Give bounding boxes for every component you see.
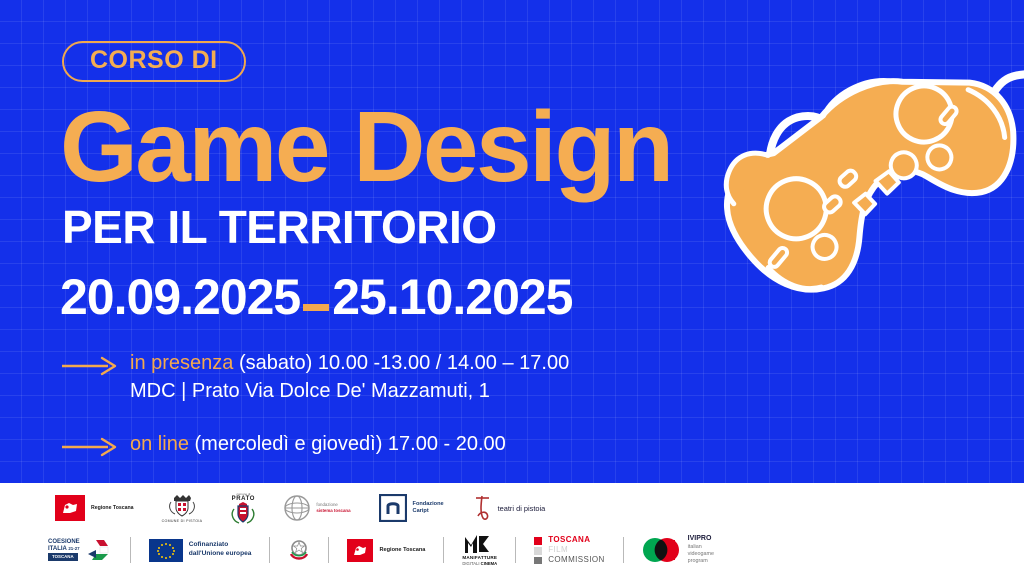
coesione-italia-label: COESIONE ITALIA 21-27 TOSCANA <box>48 539 80 562</box>
start-date: 20.09.2025 <box>60 272 300 322</box>
comune-di-prato-logo: comune di PRATO <box>230 492 256 524</box>
coesione-italia-arrow-mark <box>86 538 112 562</box>
ivipro-logo: IVIPRO italian videogame program <box>642 534 714 565</box>
logo-divider <box>269 537 270 563</box>
comune-di-pistoia-logo: COMUNE DI PISTOIA <box>162 494 203 523</box>
coesione-italia-logo: COESIONE ITALIA 21-27 TOSCANA <box>48 538 112 562</box>
repubblica-italiana-emblem <box>288 537 310 563</box>
schedule-mode-label: on line <box>130 433 189 455</box>
course-date-range: 20.09.2025 25.10.2025 <box>60 272 573 322</box>
sponsor-footer: Regione Toscana COMUNE DI PISTOIA comune… <box>0 483 1024 576</box>
toscana-film-commission-logo: TOSCANA FILM COMMISSION <box>534 535 604 566</box>
arrow-right-icon <box>60 434 122 460</box>
comune-di-pistoia-label: COMUNE DI PISTOIA <box>162 519 203 523</box>
schedule-info: in presenza (sabato) 10.00 -13.00 / 14.0… <box>60 350 700 460</box>
regione-toscana-label: Regione Toscana <box>379 547 425 553</box>
regione-toscana-mark <box>347 539 373 562</box>
teatri-di-pistoia-label: teatri di pistoia <box>498 504 546 513</box>
schedule-text-group: on line (mercoledì e giovedì) 17.00 - 20… <box>130 431 506 459</box>
poster-root: CORSO DI Game Design PER IL TERRITORIO 2… <box>0 0 1024 576</box>
manifatture-digitali-cinema-mark <box>462 534 492 554</box>
logo-divider <box>515 537 516 563</box>
end-date: 25.10.2025 <box>332 272 572 322</box>
schedule-line-primary: on line (mercoledì e giovedì) 17.00 - 20… <box>130 431 506 459</box>
fondazione-caript-label: FondazioneCaript <box>413 501 444 516</box>
regione-toscana-logo: Regione Toscana <box>347 539 425 562</box>
logo-divider <box>443 537 444 563</box>
arrow-right-icon <box>60 353 122 379</box>
sponsor-row-institutional: Regione Toscana COMUNE DI PISTOIA comune… <box>55 492 545 524</box>
page-title: Game Design <box>60 97 672 197</box>
unione-europea-logo: Cofinanziato dall'Unione europea <box>149 539 252 562</box>
comune-di-prato-crest <box>230 502 256 524</box>
eu-flag-icon <box>149 539 183 562</box>
repubblica-italiana-emblem-icon <box>288 537 310 563</box>
fondazione-sistema-toscana-globe <box>284 495 310 521</box>
toscana-film-commission-label: TOSCANA FILM COMMISSION <box>548 535 604 566</box>
badge-container: CORSO DI <box>62 41 246 82</box>
logo-divider <box>623 537 624 563</box>
schedule-line-primary: in presenza (sabato) 10.00 -13.00 / 14.0… <box>130 350 569 378</box>
fondazione-caript-mark <box>379 494 407 522</box>
schedule-venue-label: MDC | Prato Via Dolce De' Mazzamuti, 1 <box>130 378 569 406</box>
ivipro-mark <box>642 536 682 564</box>
schedule-time-label: (mercoledì e giovedì) 17.00 - 20.00 <box>189 433 506 455</box>
sponsor-row-funding: COESIONE ITALIA 21-27 TOSCANA <box>48 532 714 568</box>
digitali-cinema-label: DIGITALI CINEMA <box>462 561 497 566</box>
fondazione-caript-logo: FondazioneCaript <box>379 494 444 522</box>
regione-toscana-logo: Regione Toscana <box>55 495 134 521</box>
schedule-text-group: in presenza (sabato) 10.00 -13.00 / 14.0… <box>130 350 569 405</box>
game-controller-illustration <box>700 0 1024 436</box>
date-separator-dash <box>303 304 329 311</box>
schedule-mode-label: in presenza <box>130 352 233 374</box>
toscana-film-commission-squares <box>534 536 543 564</box>
page-subtitle: PER IL TERRITORIO <box>62 204 497 250</box>
teatri-di-pistoia-logo: teatri di pistoia <box>472 495 546 521</box>
regione-toscana-mark <box>55 495 85 521</box>
fondazione-sistema-toscana-label: fondazionesistema toscana <box>316 502 350 514</box>
hero-section: CORSO DI Game Design PER IL TERRITORIO 2… <box>0 0 1024 483</box>
fondazione-sistema-toscana-logo: fondazionesistema toscana <box>284 495 350 521</box>
manifatture-label: MANIFATTURE <box>462 555 497 560</box>
unione-europea-label: Cofinanziato dall'Unione europea <box>189 541 252 559</box>
logo-divider <box>130 537 131 563</box>
teatri-di-pistoia-mark <box>472 495 492 521</box>
schedule-item-on-line: on line (mercoledì e giovedì) 17.00 - 20… <box>60 431 700 460</box>
schedule-item-in-presenza: in presenza (sabato) 10.00 -13.00 / 14.0… <box>60 350 700 405</box>
corso-di-badge: CORSO DI <box>62 41 246 82</box>
comune-di-pistoia-crest <box>167 494 197 518</box>
ivipro-label: IVIPRO italian videogame program <box>688 534 714 565</box>
manifatture-digitali-cinema-logo: MANIFATTURE DIGITALI CINEMA <box>462 534 497 566</box>
regione-toscana-label: Regione Toscana <box>91 505 134 511</box>
logo-divider <box>328 537 329 563</box>
schedule-time-label: (sabato) 10.00 -13.00 / 14.00 – 17.00 <box>233 352 569 374</box>
